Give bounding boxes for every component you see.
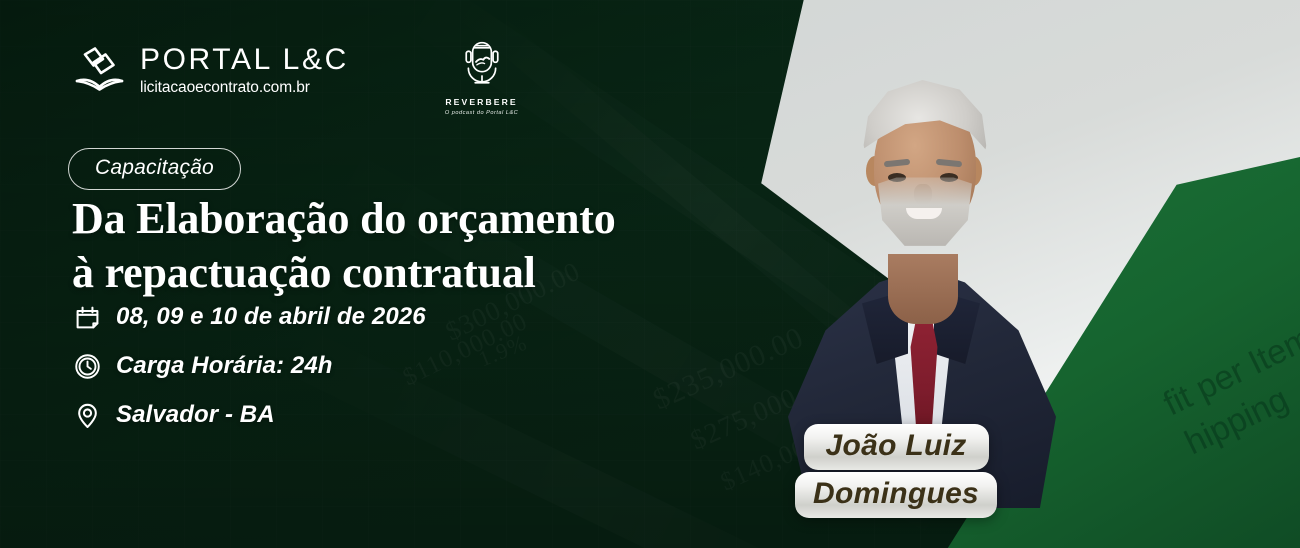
location-pin-icon [74, 402, 101, 429]
speaker-name-badge: João Luiz Domingues [795, 424, 997, 518]
event-date-text: 08, 09 e 10 de abril de 2026 [116, 303, 426, 331]
page-title: Da Elaboração do orçamento à repactuação… [72, 192, 616, 300]
event-duration-text: Carga Horária: 24h [116, 352, 333, 380]
speaker-neck [888, 254, 958, 324]
event-location-text: Salvador - BA [116, 401, 275, 429]
calendar-icon [74, 304, 101, 331]
speaker-name-line-2: Domingues [795, 472, 997, 518]
podcast-name: REVERBERE [445, 97, 517, 107]
event-detail-date: 08, 09 e 10 de abril de 2026 [74, 303, 426, 331]
speaker-mouth [906, 208, 942, 219]
promo-banner: $235,000.00 $275,000.00 $140,000.00 $300… [0, 0, 1300, 548]
reverbere-podcast-logo[interactable]: REVERBERE O podcast do Portal L&C [445, 40, 518, 116]
header-logos: PORTAL L&C licitacaoecontrato.com.br [72, 42, 518, 116]
event-details: 08, 09 e 10 de abril de 2026 Carga Horár… [74, 303, 426, 429]
microphone-icon [459, 40, 505, 93]
brand-website: licitacaoecontrato.com.br [140, 80, 349, 96]
brand-title: PORTAL L&C [140, 45, 349, 75]
speaker-portrait [770, 18, 1070, 488]
capacitacao-badge: Capacitação [68, 148, 241, 190]
portal-lc-logo[interactable]: PORTAL L&C licitacaoecontrato.com.br [72, 42, 349, 98]
headline-line-1: Da Elaboração do orçamento [72, 192, 616, 246]
headline-line-2: à repactuação contratual [72, 246, 616, 300]
gavel-book-icon [72, 42, 128, 98]
event-detail-location: Salvador - BA [74, 401, 426, 429]
speaker-name-line-1: João Luiz [804, 424, 989, 470]
clock-icon [74, 353, 101, 380]
podcast-tagline: O podcast do Portal L&C [445, 110, 518, 116]
event-detail-duration: Carga Horária: 24h [74, 352, 426, 380]
